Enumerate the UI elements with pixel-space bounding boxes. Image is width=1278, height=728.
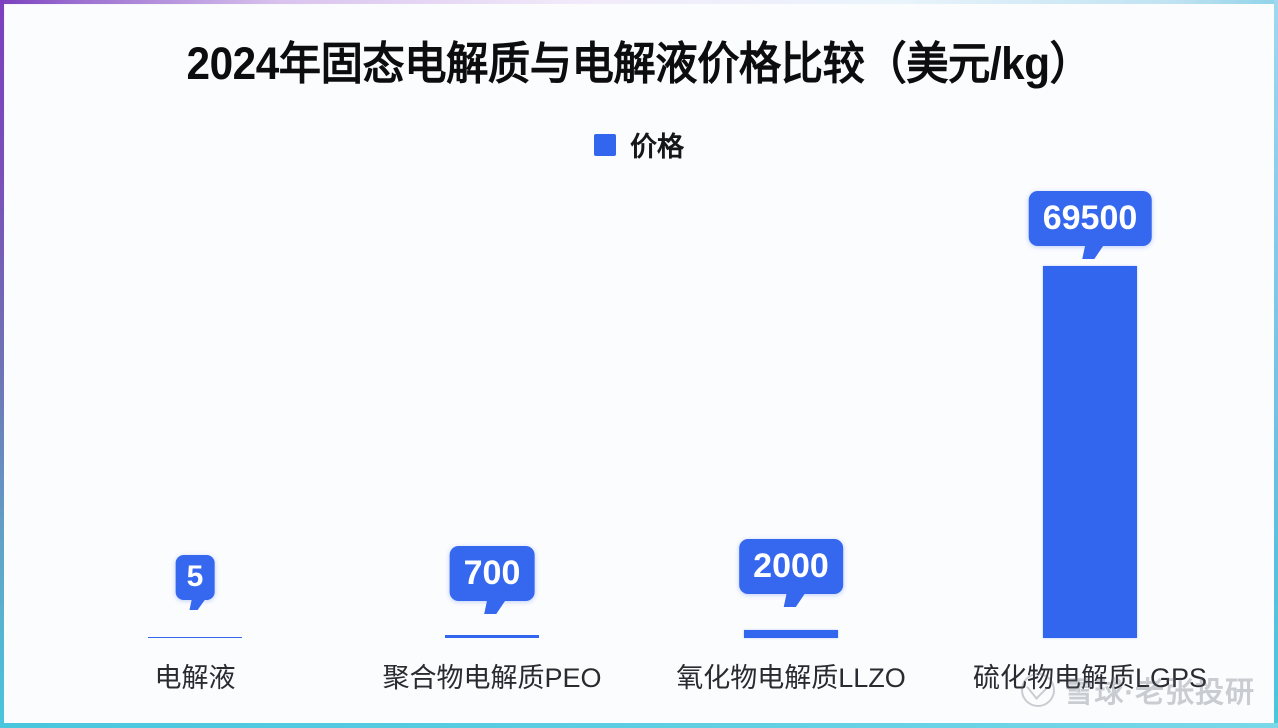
plot-area: 2024年固态电解质与电解液价格比较（美元/kg） 价格 5 700 2000 …	[5, 5, 1273, 723]
frame-border-right	[1274, 0, 1278, 728]
xaxis-layer: 电解液 聚合物电解质PEO 氧化物电解质LLZO 硫化物电解质LGPS	[5, 5, 1273, 723]
frame-border-left	[0, 0, 4, 728]
xtick-label-0: 电解液	[45, 656, 345, 695]
frame-border-bottom	[0, 723, 1278, 728]
frame-border-top	[0, 0, 1278, 4]
xtick-label-2: 氧化物电解质LLZO	[641, 656, 941, 695]
xtick-label-3: 硫化物电解质LGPS	[940, 656, 1240, 695]
chart-frame: 2024年固态电解质与电解液价格比较（美元/kg） 价格 5 700 2000 …	[0, 0, 1278, 728]
xtick-label-1: 聚合物电解质PEO	[342, 656, 642, 695]
